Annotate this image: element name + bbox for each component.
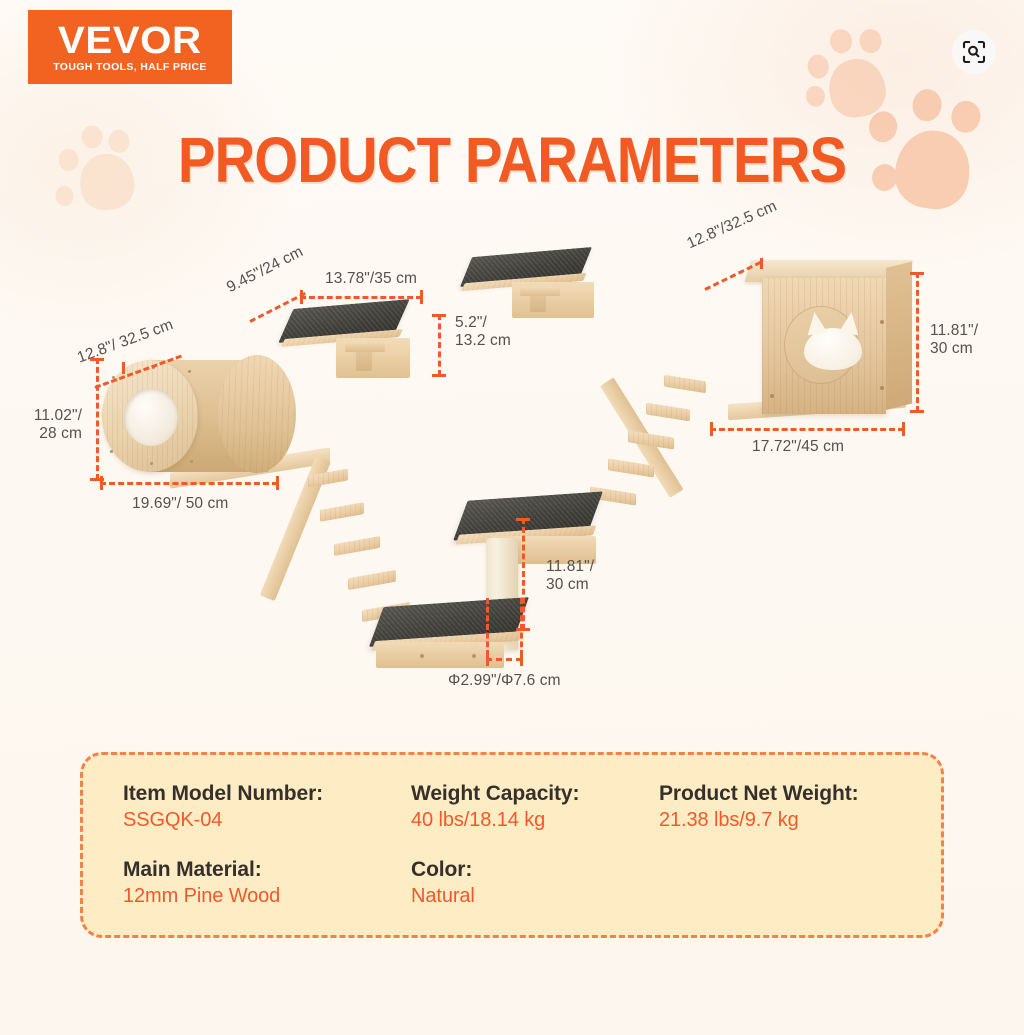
spec-main-material: Main Material: 12mm Pine Wood — [123, 857, 411, 909]
spec-weight-capacity: Weight Capacity: 40 lbs/18.14 kg — [411, 781, 659, 833]
dim-label-house-height: 11.81"/ 30 cm — [930, 322, 978, 358]
spec-item-model-number: Item Model Number: SSGQK-04 — [123, 781, 411, 833]
brand-name: VEVOR — [58, 22, 202, 60]
scan-zoom-button[interactable] — [952, 30, 996, 74]
spec-key: Product Net Weight: — [659, 781, 941, 808]
product-diagram: 12.8"/ 32.5 cm 11.02"/ 28 cm 19.69"/ 50 … — [0, 210, 1024, 730]
spec-key: Color: — [411, 857, 659, 884]
spec-value: 12mm Pine Wood — [123, 884, 411, 910]
spec-product-net-weight: Product Net Weight: 21.38 lbs/9.7 kg — [659, 781, 941, 833]
spec-value: Natural — [411, 884, 659, 910]
dim-label-shelf-height: 5.2"/ 13.2 cm — [455, 314, 511, 350]
spec-filler — [659, 857, 941, 909]
dim-label-barrel-height: 11.02"/ 28 cm — [14, 407, 82, 443]
dim-label-house-width: 17.72"/45 cm — [752, 438, 844, 456]
specifications-panel: Item Model Number: SSGQK-04 Weight Capac… — [80, 752, 944, 938]
spec-key: Weight Capacity: — [411, 781, 659, 808]
dim-label-barrel-width: 19.69"/ 50 cm — [132, 495, 228, 513]
brand-tagline: TOUGH TOOLS, HALF PRICE — [53, 62, 207, 73]
spec-value: 40 lbs/18.14 kg — [411, 808, 659, 834]
spec-key: Main Material: — [123, 857, 411, 884]
spec-color: Color: Natural — [411, 857, 659, 909]
spec-value: 21.38 lbs/9.7 kg — [659, 808, 941, 834]
spec-key: Item Model Number: — [123, 781, 411, 808]
product-infographic-page: VEVOR TOUGH TOOLS, HALF PRICE — [0, 0, 1024, 1035]
dim-label-post-height: 11.81"/ 30 cm — [546, 558, 594, 594]
paw-print-icon — [790, 7, 930, 140]
dim-label-shelf-width: 13.78"/35 cm — [325, 270, 417, 288]
dim-label-shelf-depth: 9.45"/24 cm — [224, 243, 306, 297]
dim-label-post-diameter: Φ2.99"/Φ7.6 cm — [448, 672, 561, 690]
scan-zoom-icon — [961, 39, 987, 65]
spec-value: SSGQK-04 — [123, 808, 411, 834]
vevor-logo: VEVOR TOUGH TOOLS, HALF PRICE — [28, 10, 232, 84]
page-title: PRODUCT PARAMETERS — [61, 128, 962, 192]
dim-label-house-depth: 12.8"/32.5 cm — [684, 198, 779, 253]
